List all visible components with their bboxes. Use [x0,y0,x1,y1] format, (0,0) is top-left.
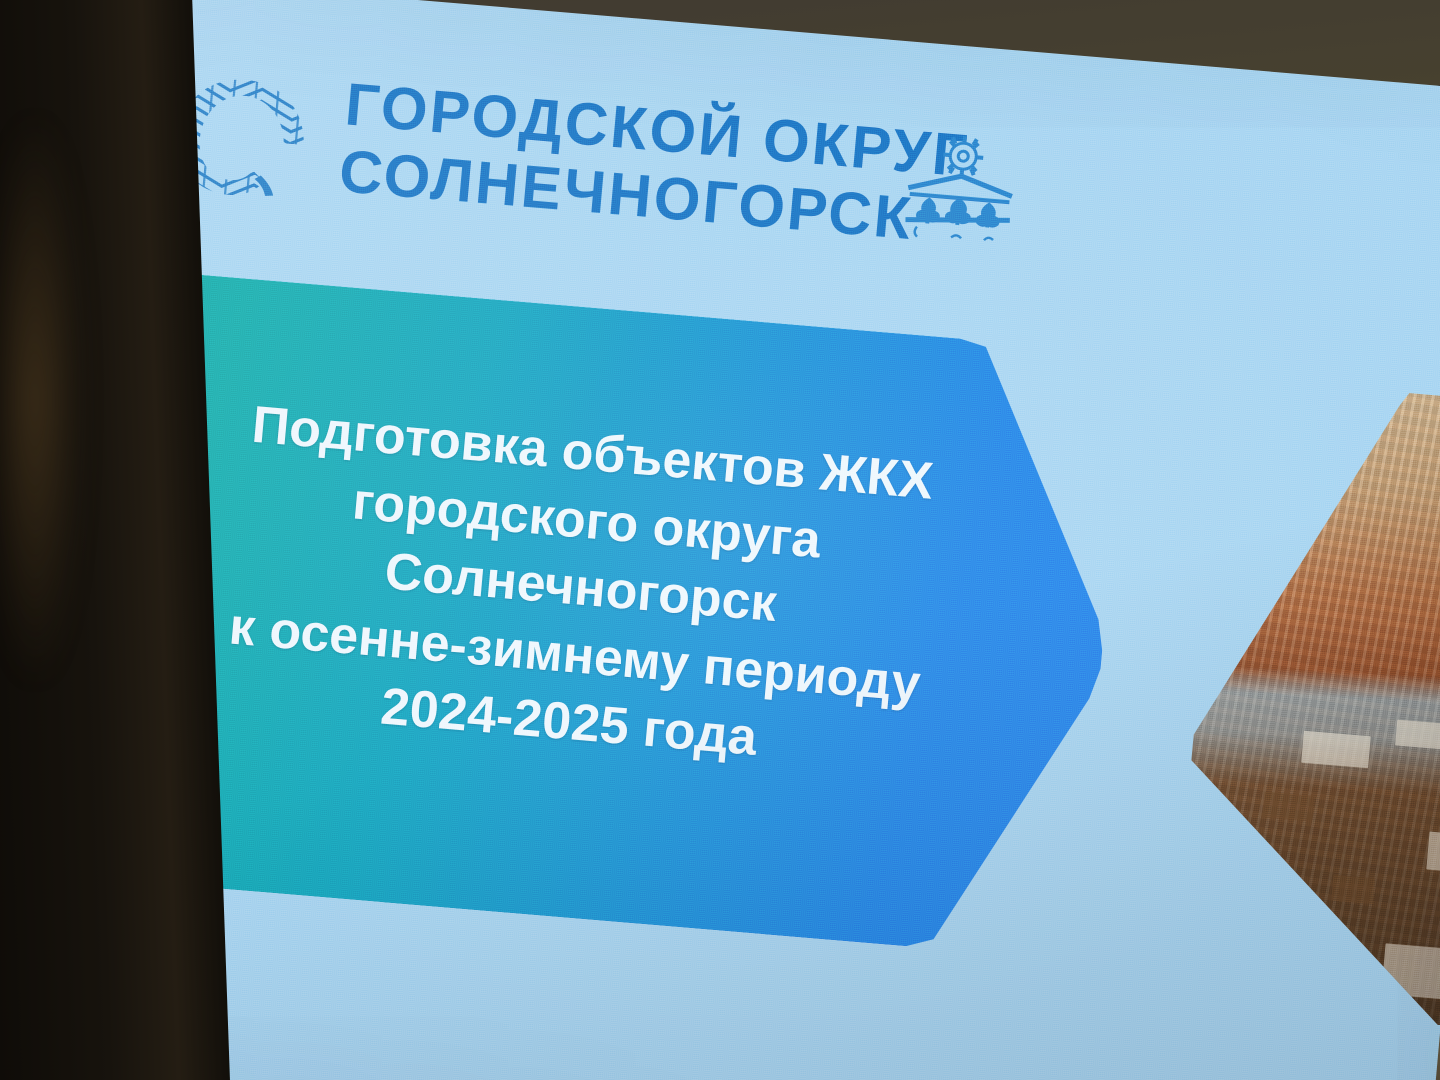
photo-shading-layer [1162,364,1440,1037]
room-background: ГОРОДСКОЙ ОКРУГ СОЛНЕЧНОГОРСК [0,0,1440,1080]
wall-left-glow [0,120,80,680]
projection-screen: ГОРОДСКОЙ ОКРУГ СОЛНЕЧНОГОРСК [11,0,1440,1080]
coat-of-arms-sun-and-trees-icon [895,125,1025,255]
presentation-slide: ГОРОДСКОЙ ОКРУГ СОЛНЕЧНОГОРСК [11,0,1440,1080]
aerial-city-photo [1162,364,1440,1037]
